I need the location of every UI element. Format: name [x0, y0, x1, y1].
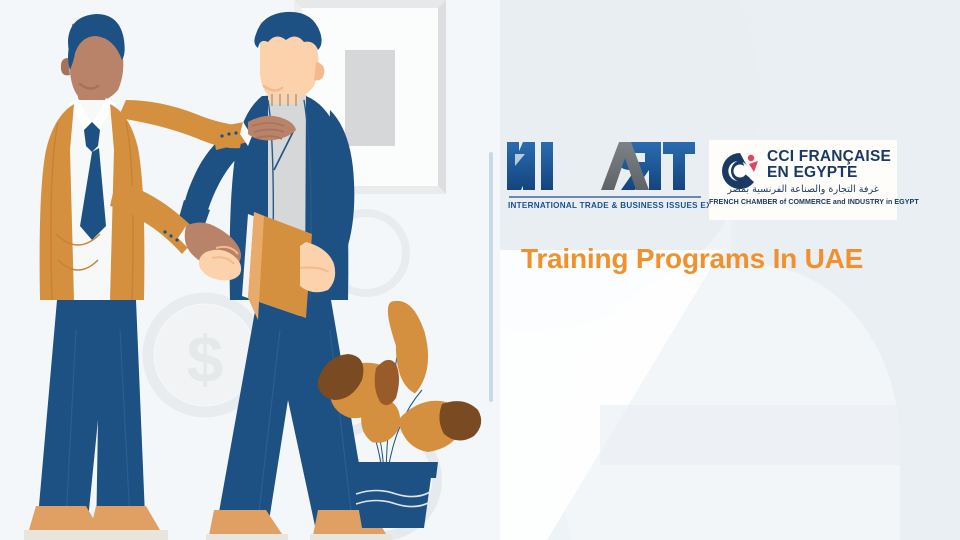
cci-line-2: EN EGYPTE: [767, 165, 858, 181]
background-strip: [600, 405, 960, 465]
train-wordmark-icon: [507, 140, 703, 192]
svg-text:$: $: [187, 322, 224, 396]
slide-canvas: $ $: [0, 0, 960, 540]
train-logo-rule: [509, 196, 701, 198]
cci-line-3: FRENCH CHAMBER of COMMERCE and INDUSTRY …: [709, 198, 897, 206]
cci-arabic-line: غرفة التجارة والصناعة الفرنسية بمصر: [709, 184, 897, 195]
train-logo: INTERNATIONAL TRADE & BUSINESS ISSUES EX…: [507, 140, 703, 220]
cci-line-1: CCI FRANÇAISE: [767, 149, 891, 165]
hero-illustration: $ $: [0, 0, 500, 540]
cci-logo: CCI FRANÇAISE EN EGYPTE غرفة التجارة وال…: [709, 140, 897, 220]
vertical-divider: [489, 152, 493, 402]
page-title: Training Programs In UAE: [521, 243, 863, 275]
train-logo-tagline: INTERNATIONAL TRADE & BUSINESS ISSUES EX…: [508, 201, 704, 210]
